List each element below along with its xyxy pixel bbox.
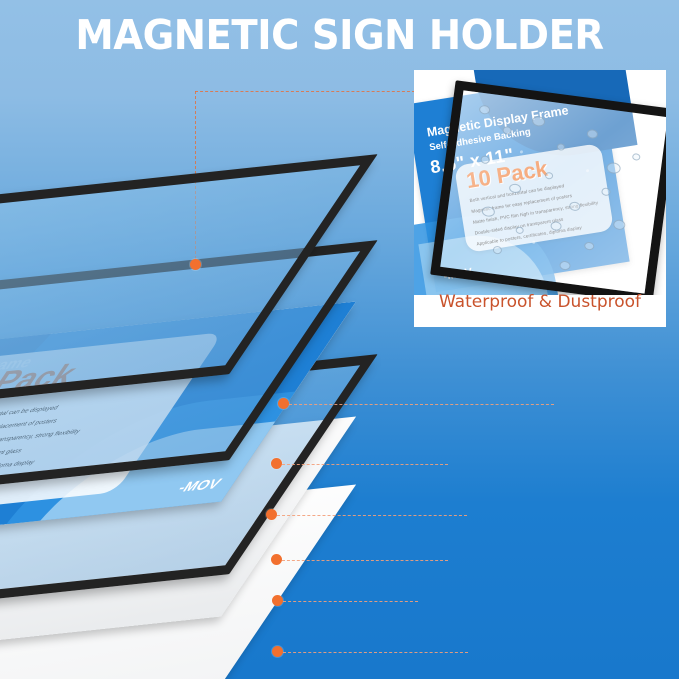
card-caption: Waterproof & Dustproof [414, 292, 666, 312]
callout-dot [271, 458, 282, 469]
callout-dot [272, 646, 283, 657]
callout-line [282, 560, 448, 561]
frame-glass-sheen [440, 90, 666, 293]
card-magnetic-frame [430, 80, 666, 295]
callout-dot [271, 554, 282, 565]
callout-dot [266, 509, 277, 520]
callout-line [289, 404, 554, 405]
pvc-callout-anchor-dot [190, 259, 201, 270]
callout-line [283, 652, 468, 653]
callout-dot [278, 398, 289, 409]
product-photo-card: Magnetic Display Frame Self-Adhesive Bac… [414, 70, 666, 327]
callout-line [277, 515, 467, 516]
infographic-canvas: MAGNETIC SIGN HOLDER Magnetic Display Fr… [0, 0, 679, 679]
callout-line [282, 464, 448, 465]
callout-dot [272, 595, 283, 606]
callout-line [283, 601, 418, 602]
product-photo: Magnetic Display Frame Self-Adhesive Bac… [414, 70, 666, 295]
